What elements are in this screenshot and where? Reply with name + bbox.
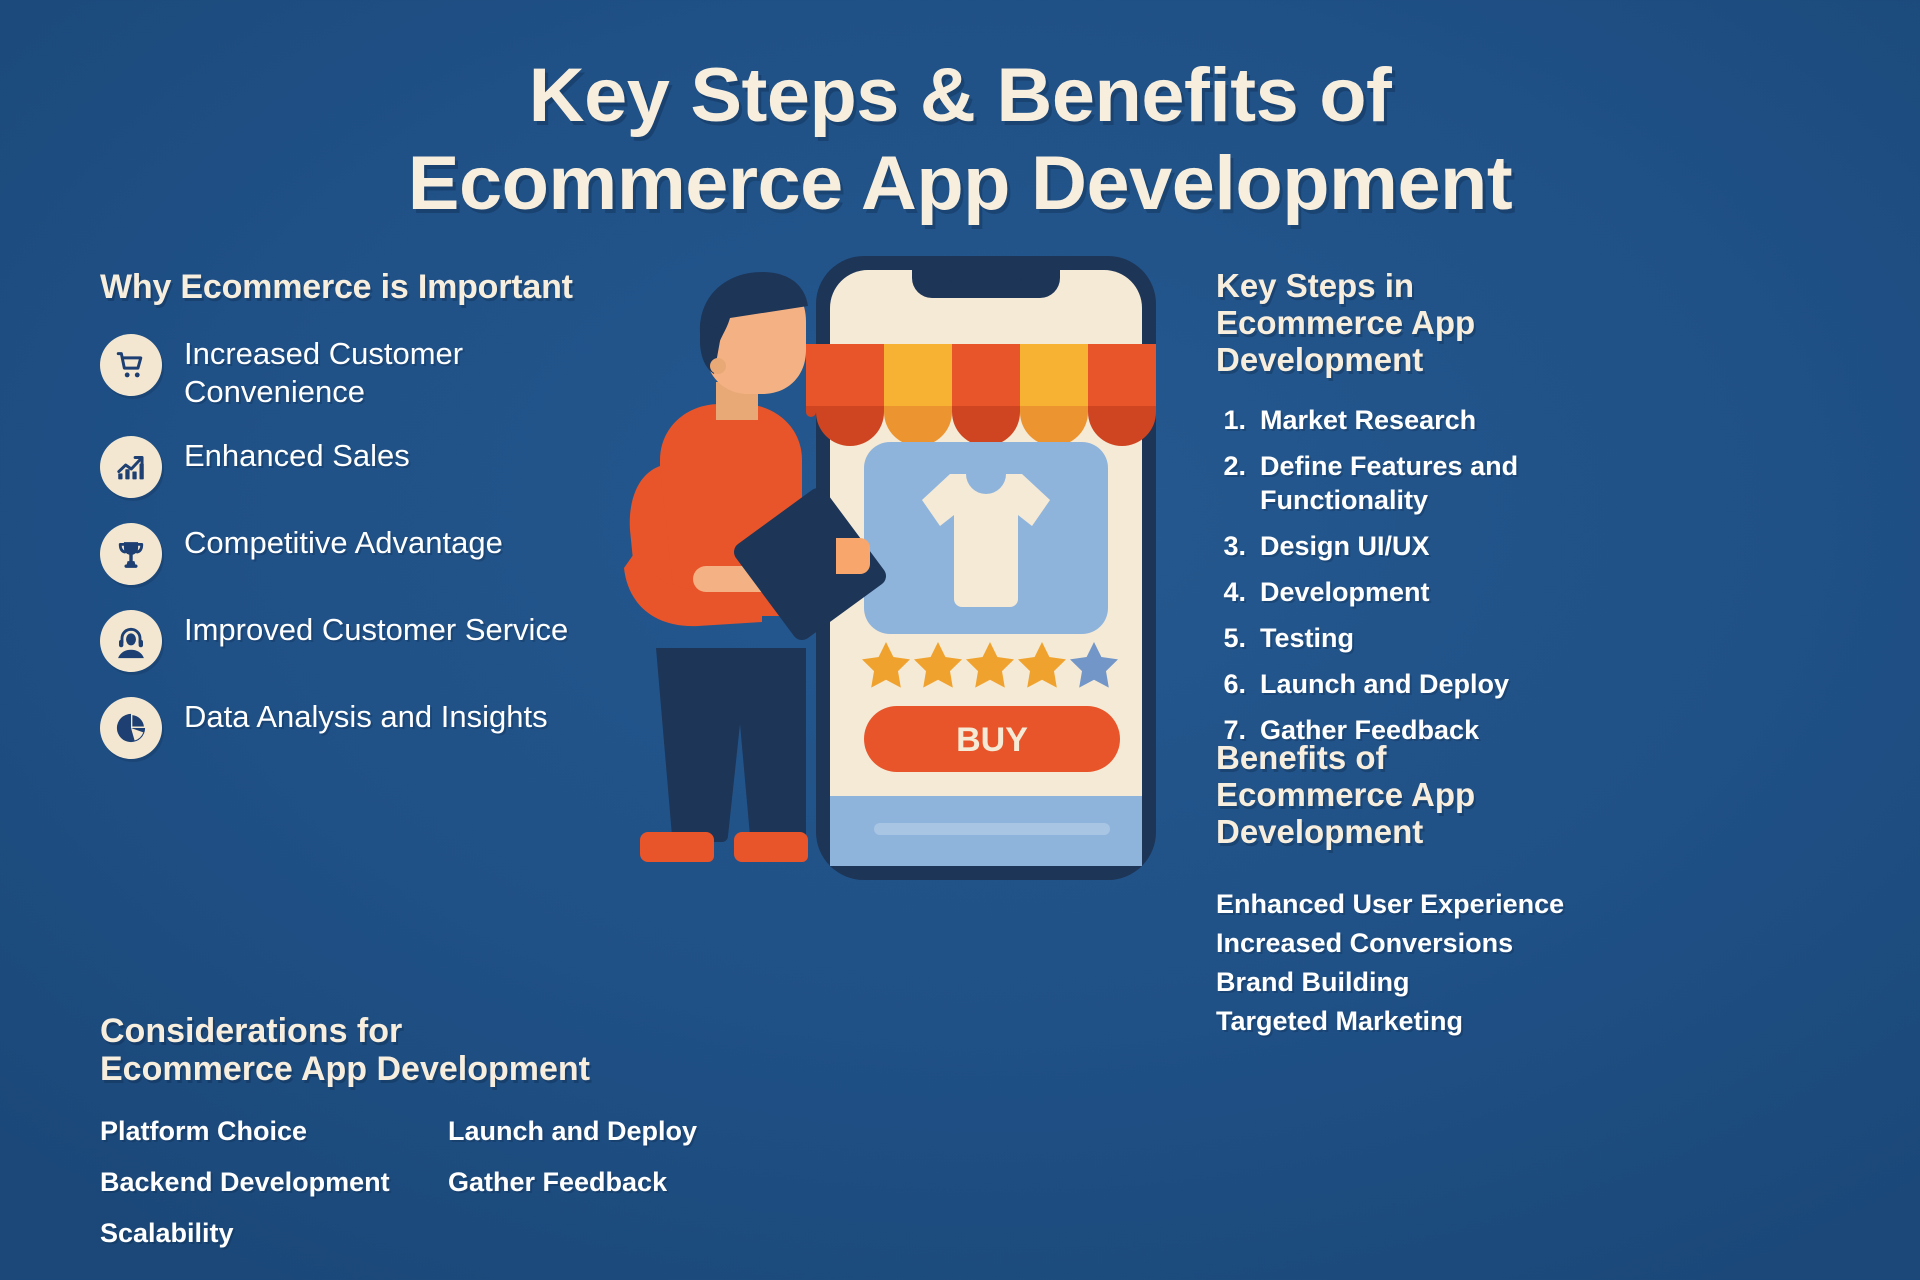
consideration-item-empty [448,1214,800,1253]
considerations-heading-line-2: Ecommerce App Development [100,1050,800,1088]
list-item: Brand Building [1216,963,1564,1002]
page-title-line-1: Key Steps & Benefits of [0,52,1920,140]
headset-support-icon [100,610,162,672]
step-number: 5. [1216,621,1246,655]
benefits-list: Enhanced User Experience Increased Conve… [1216,885,1564,1041]
page-title: Key Steps & Benefits of Ecommerce App De… [0,52,1920,228]
list-item: Targeted Marketing [1216,1002,1564,1041]
list-item: 4. Development [1216,575,1856,609]
trophy-icon [100,523,162,585]
step-number: 2. [1216,449,1246,517]
key-steps-heading-line-1: Key Steps in [1216,268,1856,305]
list-item-label: Data Analysis and Insights [184,695,548,736]
list-item-label: Enhanced Sales [184,434,410,475]
step-label: Design UI/UX [1260,529,1430,563]
growth-chart-icon [100,436,162,498]
storefront-awning-icon [806,344,1156,446]
considerations-grid: Platform Choice Launch and Deploy Backen… [100,1112,800,1253]
illustration-svg: BUY [620,248,1200,888]
list-item: Enhanced User Experience [1216,885,1564,924]
benefits-heading-line-2: Ecommerce App [1216,777,1636,814]
key-steps-heading-line-3: Development [1216,342,1856,379]
consideration-item: Scalability [100,1214,448,1253]
key-steps-heading-line-2: Ecommerce App [1216,305,1856,342]
step-number: 1. [1216,403,1246,437]
key-steps-section: Key Steps in Ecommerce App Development 1… [1216,268,1856,759]
step-label: Development [1260,575,1430,609]
benefits-heading-line-3: Development [1216,814,1636,851]
step-label: Define Features and Functionality [1260,449,1560,517]
consideration-item: Platform Choice [100,1112,448,1151]
list-item-label: Improved Customer Service [184,608,568,649]
benefits-section-heading: Benefits of Ecommerce App Development [1216,740,1636,851]
benefits-heading: Benefits of Ecommerce App Development [1216,740,1636,851]
key-steps-heading: Key Steps in Ecommerce App Development [1216,268,1856,379]
list-item: 5. Testing [1216,621,1856,655]
list-item: Increased Conversions [1216,924,1564,963]
page-title-line-2: Ecommerce App Development [0,140,1920,228]
list-item: 1. Market Research [1216,403,1856,437]
consideration-item: Gather Feedback [448,1163,800,1202]
shopping-cart-icon [100,334,162,396]
list-item-label: Increased Customer Convenience [184,332,604,411]
list-item-label: Competitive Advantage [184,521,503,562]
step-number: 3. [1216,529,1246,563]
step-number: 4. [1216,575,1246,609]
step-number: 6. [1216,667,1246,701]
considerations-section: Considerations for Ecommerce App Develop… [100,1012,800,1253]
pie-chart-icon [100,697,162,759]
step-label: Testing [1260,621,1354,655]
considerations-heading: Considerations for Ecommerce App Develop… [100,1012,800,1088]
buy-button-label: BUY [956,721,1028,759]
buy-button[interactable]: BUY [864,706,1120,772]
list-item: 2. Define Features and Functionality [1216,449,1856,517]
consideration-item: Launch and Deploy [448,1112,800,1151]
considerations-heading-line-1: Considerations for [100,1012,800,1050]
key-steps-list: 1. Market Research 2. Define Features an… [1216,403,1856,747]
consideration-item: Backend Development [100,1163,448,1202]
product-tile [864,442,1108,634]
list-item: 6. Launch and Deploy [1216,667,1856,701]
ecommerce-illustration: BUY [620,248,1200,888]
step-label: Launch and Deploy [1260,667,1509,701]
step-label: Market Research [1260,403,1476,437]
benefits-heading-line-1: Benefits of [1216,740,1636,777]
list-item: 3. Design UI/UX [1216,529,1856,563]
